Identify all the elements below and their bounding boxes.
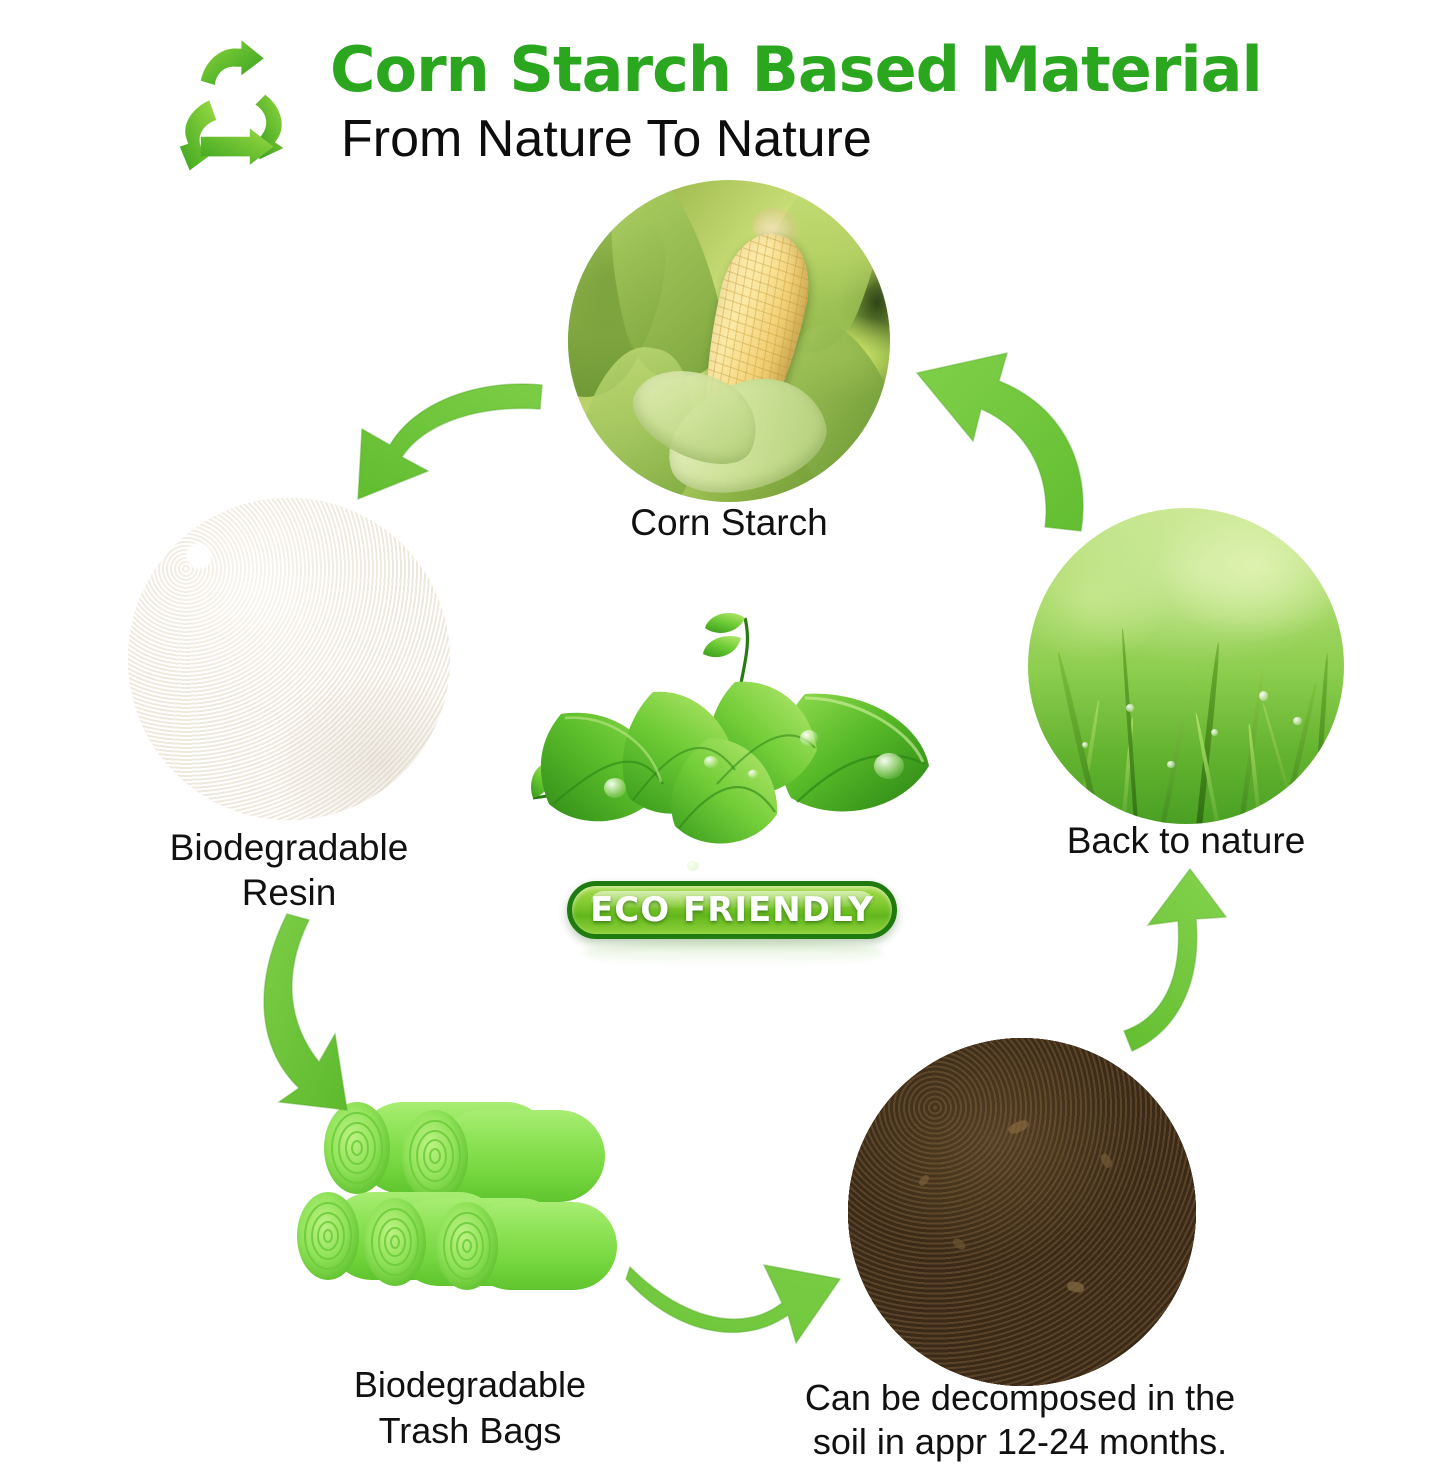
- page-title: Corn Starch Based Material: [330, 38, 1330, 102]
- arrow-grass-to-corn: [895, 345, 1110, 540]
- badge-reflection: [583, 940, 883, 966]
- bags-label-line1: Biodegradable: [354, 1364, 586, 1405]
- page-subtitle: From Nature To Nature: [341, 110, 1341, 168]
- resin-label-line1: Biodegradable: [170, 827, 409, 868]
- biodegradable-trash-bags-label: Biodegradable Trash Bags: [270, 1362, 670, 1454]
- soil-label-line2: soil in appr 12-24 months.: [813, 1421, 1227, 1462]
- soil-label-line1: Can be decomposed in the: [805, 1377, 1235, 1418]
- arrow-bags-to-soil: [600, 1245, 865, 1370]
- back-to-nature-image: [1028, 508, 1344, 824]
- recycle-icon: [163, 36, 303, 176]
- arrow-resin-to-bags: [243, 900, 418, 1125]
- arrow-soil-to-grass: [1120, 865, 1295, 1090]
- infographic-canvas: Corn Starch Based Material From Nature T…: [0, 0, 1445, 1445]
- eco-friendly-logo: ECO FRIENDLY: [505, 598, 945, 973]
- eco-friendly-badge-label: ECO FRIENDLY: [572, 886, 892, 934]
- arrow-corn-to-resin: [330, 365, 600, 515]
- eco-friendly-badge: ECO FRIENDLY: [567, 881, 897, 939]
- header: Corn Starch Based Material From Nature T…: [0, 0, 1445, 180]
- corn-starch-image: [568, 180, 890, 502]
- biodegradable-resin-image: [128, 498, 450, 820]
- back-to-nature-label: Back to nature: [986, 818, 1386, 863]
- soil-decomposition-label: Can be decomposed in the soil in appr 12…: [770, 1376, 1270, 1464]
- soil-decomposition-image: [848, 1038, 1196, 1386]
